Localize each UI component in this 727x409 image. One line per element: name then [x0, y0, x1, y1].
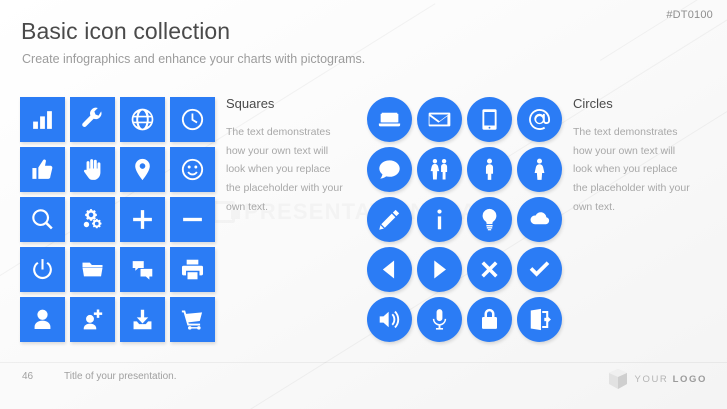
squares-text-column: Squares The text demonstrates how your o…: [226, 96, 344, 216]
circles-text-column: Circles The text demonstrates how your o…: [573, 96, 691, 216]
circles-icon-grid: [367, 97, 562, 342]
square-tile-add-user[interactable]: [70, 297, 115, 342]
pencil-icon: [377, 207, 402, 232]
printer-icon: [180, 257, 205, 282]
plus-icon: [130, 207, 155, 232]
logo-word-2: LOGO: [673, 374, 707, 385]
microphone-icon: [427, 307, 452, 332]
circle-tile-speaker[interactable]: [367, 297, 412, 342]
square-tile-user[interactable]: [20, 297, 65, 342]
square-tile-wrench[interactable]: [70, 97, 115, 142]
smiley-icon: [180, 157, 205, 182]
square-tile-download[interactable]: [120, 297, 165, 342]
tablet-icon: [477, 107, 502, 132]
square-tile-shopping-cart[interactable]: [170, 297, 215, 342]
footer-divider: [0, 362, 727, 363]
circle-tile-envelope[interactable]: [417, 97, 462, 142]
square-tile-search[interactable]: [20, 197, 65, 242]
circle-tile-microphone[interactable]: [417, 297, 462, 342]
page-number: 46: [22, 371, 33, 382]
shopping-cart-icon: [180, 307, 205, 332]
laptop-icon: [377, 107, 402, 132]
download-icon: [130, 307, 155, 332]
play-arrow-icon: [427, 257, 452, 282]
squares-body-text: The text demonstrates how your own text …: [226, 123, 344, 216]
circles-heading: Circles: [573, 96, 691, 111]
circle-tile-previous-arrow[interactable]: [367, 247, 412, 292]
envelope-icon: [427, 107, 452, 132]
circle-tile-exit-door[interactable]: [517, 297, 562, 342]
page-subtitle: Create infographics and enhance your cha…: [22, 52, 365, 66]
cube-logo-icon: [608, 368, 628, 390]
man-icon: [477, 157, 502, 182]
logo-text: YOUR LOGO: [635, 374, 707, 385]
square-tile-location-pin[interactable]: [120, 147, 165, 192]
square-tile-power[interactable]: [20, 247, 65, 292]
page-title: Basic icon collection: [21, 18, 230, 45]
square-tile-printer[interactable]: [170, 247, 215, 292]
circle-tile-close-x[interactable]: [467, 247, 512, 292]
user-icon: [30, 307, 55, 332]
chat-icon: [130, 257, 155, 282]
square-tile-thumbs-up[interactable]: [20, 147, 65, 192]
logo-word-1: YOUR: [635, 374, 669, 385]
wrench-icon: [80, 107, 105, 132]
gears-icon: [80, 207, 105, 232]
circle-tile-info[interactable]: [417, 197, 462, 242]
circle-tile-cloud[interactable]: [517, 197, 562, 242]
minus-icon: [180, 207, 205, 232]
circle-tile-man[interactable]: [467, 147, 512, 192]
circle-tile-pencil[interactable]: [367, 197, 412, 242]
close-x-icon: [477, 257, 502, 282]
clock-icon: [180, 107, 205, 132]
folder-icon: [80, 257, 105, 282]
search-icon: [30, 207, 55, 232]
cloud-icon: [527, 207, 552, 232]
lock-icon: [477, 307, 502, 332]
circle-tile-tablet[interactable]: [467, 97, 512, 142]
circle-tile-speech-bubble[interactable]: [367, 147, 412, 192]
square-tile-chat[interactable]: [120, 247, 165, 292]
hand-icon: [80, 157, 105, 182]
circle-tile-laptop[interactable]: [367, 97, 412, 142]
circle-tile-check[interactable]: [517, 247, 562, 292]
circle-tile-lock[interactable]: [467, 297, 512, 342]
circle-tile-play-arrow[interactable]: [417, 247, 462, 292]
square-tile-minus[interactable]: [170, 197, 215, 242]
document-id: #DT0100: [666, 9, 713, 21]
square-tile-plus[interactable]: [120, 197, 165, 242]
globe-icon: [130, 107, 155, 132]
location-pin-icon: [130, 157, 155, 182]
square-tile-clock[interactable]: [170, 97, 215, 142]
square-tile-smiley[interactable]: [170, 147, 215, 192]
circle-tile-at-sign[interactable]: [517, 97, 562, 142]
previous-arrow-icon: [377, 257, 402, 282]
lightbulb-icon: [477, 207, 502, 232]
circle-tile-woman[interactable]: [517, 147, 562, 192]
woman-icon: [527, 157, 552, 182]
circle-tile-lightbulb[interactable]: [467, 197, 512, 242]
square-tile-bar-chart[interactable]: [20, 97, 65, 142]
power-icon: [30, 257, 55, 282]
check-icon: [527, 257, 552, 282]
exit-door-icon: [527, 307, 552, 332]
bar-chart-icon: [30, 107, 55, 132]
square-tile-folder[interactable]: [70, 247, 115, 292]
couple-icon: [427, 157, 452, 182]
square-tile-gears[interactable]: [70, 197, 115, 242]
circles-body-text: The text demonstrates how your own text …: [573, 123, 691, 216]
speech-bubble-icon: [377, 157, 402, 182]
logo: YOUR LOGO: [608, 368, 707, 390]
info-icon: [427, 207, 452, 232]
squares-heading: Squares: [226, 96, 344, 111]
at-sign-icon: [527, 107, 552, 132]
circle-tile-couple[interactable]: [417, 147, 462, 192]
add-user-icon: [80, 307, 105, 332]
thumbs-up-icon: [30, 157, 55, 182]
square-tile-globe[interactable]: [120, 97, 165, 142]
squares-icon-grid: [20, 97, 215, 342]
speaker-icon: [377, 307, 402, 332]
footer-title: Title of your presentation.: [64, 371, 176, 382]
square-tile-hand[interactable]: [70, 147, 115, 192]
